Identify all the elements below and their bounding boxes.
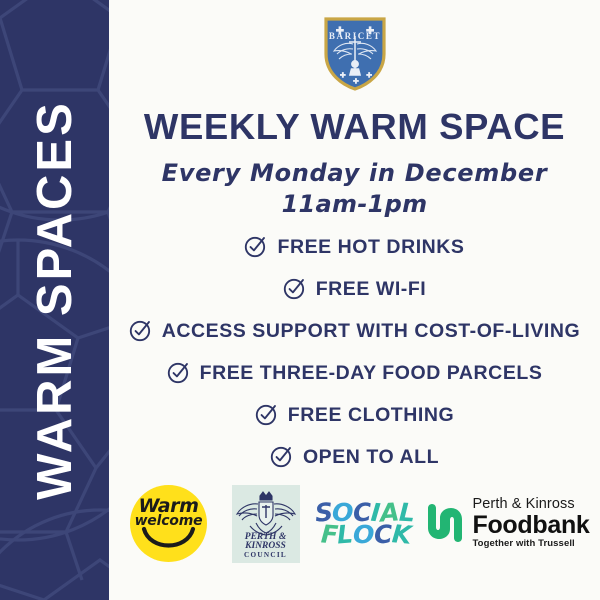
pkc-wordmark: PERTH & KINROSS COUNCIL <box>232 533 300 560</box>
smile-icon <box>130 485 207 562</box>
partner-logos: Warm welcome <box>109 476 600 571</box>
pkc-crest-panel: PERTH & KINROSS COUNCIL <box>232 485 300 563</box>
check-circle-icon <box>244 235 267 258</box>
list-item: FREE THREE-DAY FOOD PARCELS <box>109 354 600 392</box>
social-flock-line-2: FLOCK <box>315 524 414 546</box>
foodbank-logo: Perth & Kinross Foodbank Together with T… <box>421 497 589 549</box>
side-title: WARM SPACES <box>0 0 109 600</box>
list-item-label: OPEN TO ALL <box>303 446 439 469</box>
perth-kinross-council-logo: PERTH & KINROSS COUNCIL <box>223 485 309 563</box>
foodbank-line-2: Foodbank <box>472 513 589 539</box>
list-item-label: ACCESS SUPPORT WITH COST-OF-LIVING <box>162 320 580 343</box>
shield-crest-icon: BARICET <box>322 14 388 92</box>
check-circle-icon <box>255 403 278 426</box>
subtitle-line-2: 11am-1pm <box>109 189 600 220</box>
check-circle-icon <box>283 277 306 300</box>
list-item: OPEN TO ALL <box>109 438 600 476</box>
list-item: FREE CLOTHING <box>109 396 600 434</box>
foodbank-mark-icon <box>419 501 463 545</box>
check-circle-icon <box>270 445 293 468</box>
social-flock-logo: SOCIAL FLOCK <box>313 502 417 545</box>
list-item: FREE WI-FI <box>109 270 600 308</box>
subtitle-line-1: Every Monday in December <box>162 159 548 187</box>
poster-canvas: WARM SPACES BARICET <box>0 0 600 600</box>
list-item: ACCESS SUPPORT WITH COST-OF-LIVING <box>109 312 600 350</box>
subtitle: Every Monday in December 11am-1pm <box>109 158 600 219</box>
check-circle-icon <box>167 361 190 384</box>
side-band: WARM SPACES <box>0 0 109 600</box>
warm-welcome-circle-icon: Warm welcome <box>130 485 207 562</box>
crest-container: BARICET <box>109 14 600 92</box>
social-flock-wordmark: SOCIAL FLOCK <box>315 502 414 545</box>
check-circle-icon <box>129 319 152 342</box>
list-item-label: FREE THREE-DAY FOOD PARCELS <box>200 362 543 385</box>
list-item: FREE HOT DRINKS <box>109 228 600 266</box>
benefits-checklist: FREE HOT DRINKS FREE WI-FI ACCESS SUPPOR… <box>109 228 600 480</box>
main-content: BARICET <box>109 0 600 600</box>
warm-welcome-logo: Warm welcome <box>121 485 217 562</box>
pkc-line-3: COUNCIL <box>232 552 300 559</box>
foodbank-lockup: Perth & Kinross Foodbank Together with T… <box>419 497 589 549</box>
foodbank-line-3: Together with Trussell <box>472 538 589 549</box>
page-title: WEEKLY WARM SPACE <box>109 108 600 146</box>
side-title-text: WARM SPACES <box>27 100 83 500</box>
list-item-label: FREE CLOTHING <box>288 404 454 427</box>
list-item-label: FREE WI-FI <box>316 278 427 301</box>
list-item-label: FREE HOT DRINKS <box>277 236 464 259</box>
foodbank-wordmark: Perth & Kinross Foodbank Together with T… <box>472 497 589 549</box>
